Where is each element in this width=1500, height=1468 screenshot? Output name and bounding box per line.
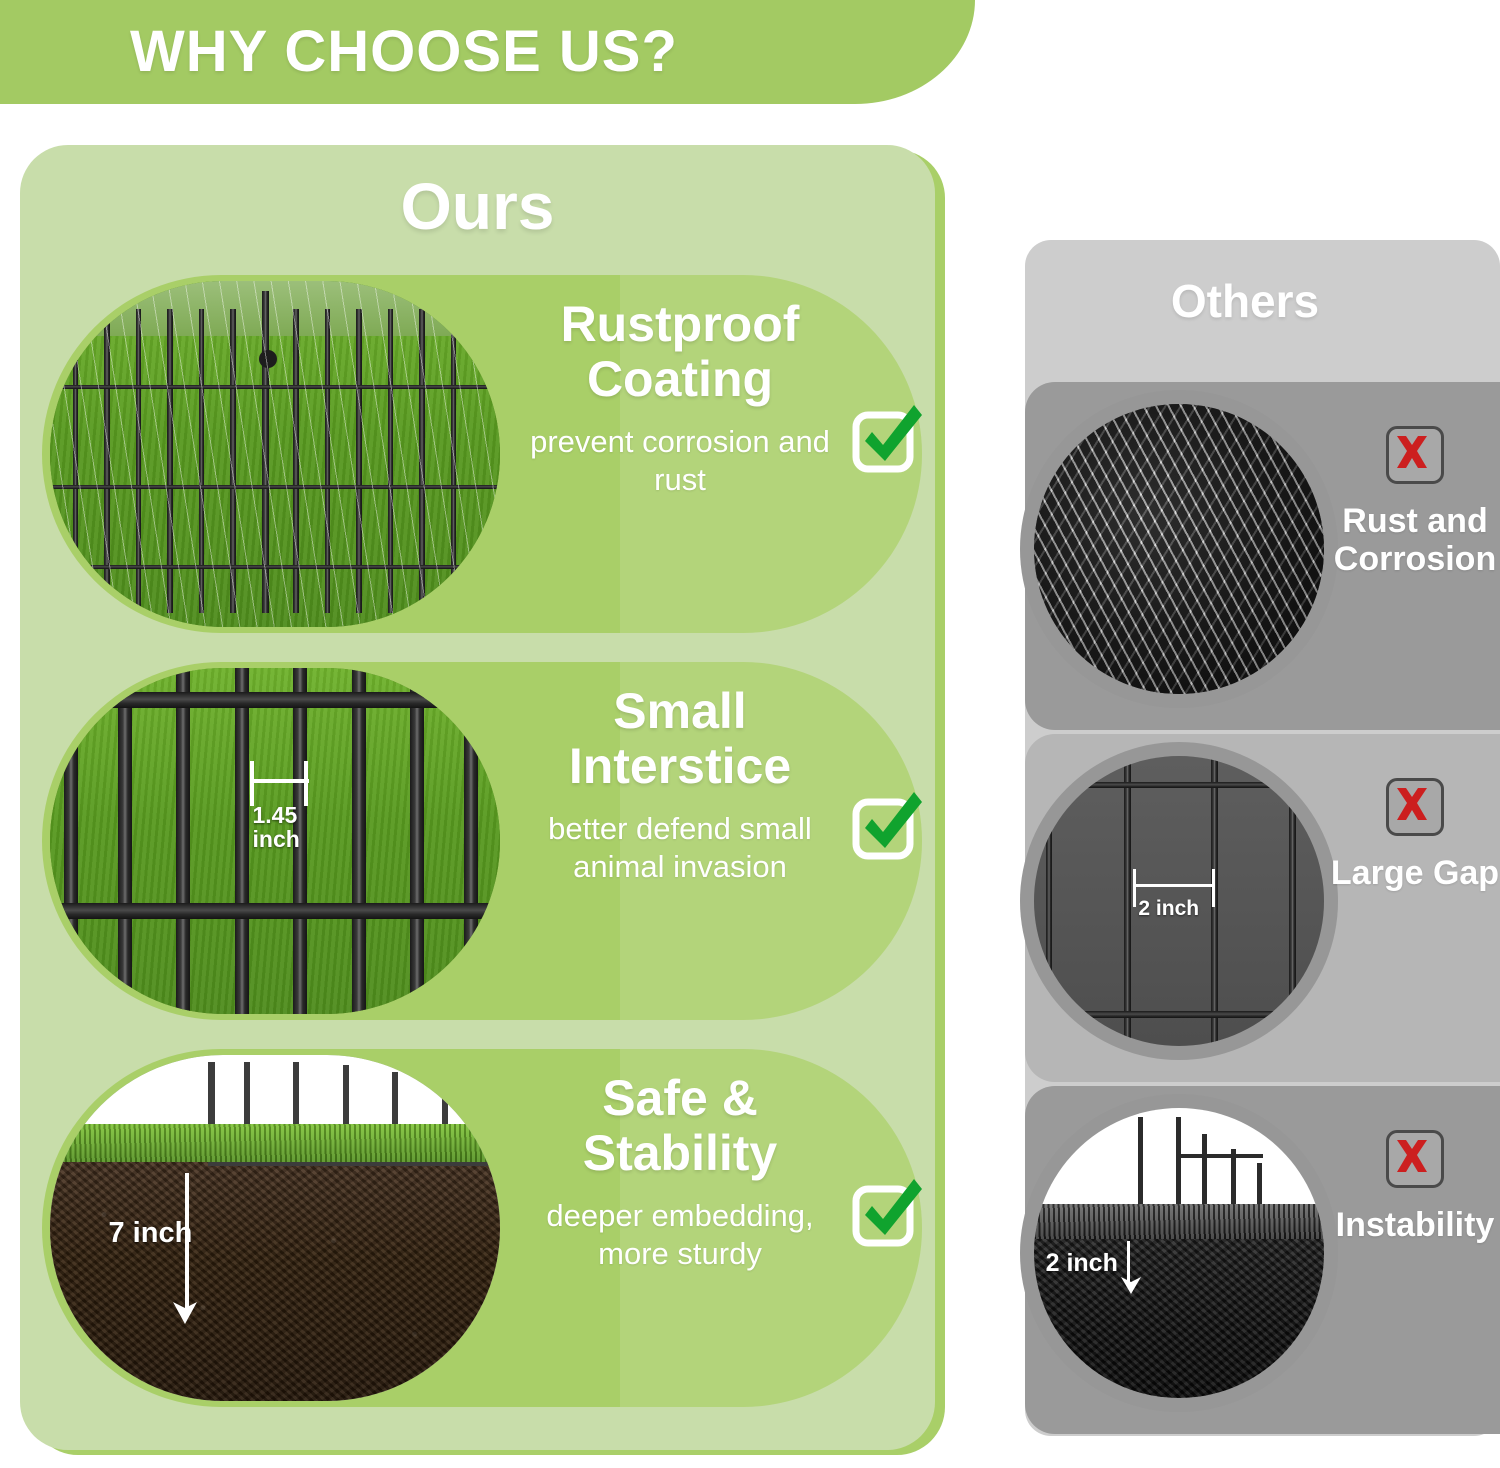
ours-feature-subtitle: deeper embedding, more sturdy xyxy=(515,1197,845,1273)
ours-feature-subtitle: prevent corrosion and rust xyxy=(515,423,845,499)
others-row-rust: Rust and Corrosion xyxy=(1025,382,1500,732)
ours-text-block: Small Interstice better defend small ani… xyxy=(515,684,845,886)
ours-feature-list: Rustproof Coating prevent corrosion and … xyxy=(20,267,935,1428)
ours-dimension-label: 1.45 inch xyxy=(253,803,300,851)
page-title: WHY CHOOSE US? xyxy=(130,23,678,81)
others-caption: Instability xyxy=(1325,1130,1500,1244)
ours-photo-soil-cross-section: 7 inch xyxy=(50,1055,500,1401)
ours-panel: Ours xyxy=(20,145,935,1450)
ours-text-block: Safe & Stability deeper embedding, more … xyxy=(515,1071,845,1273)
others-dimension-label: 2 inch xyxy=(1138,898,1199,920)
others-label: Large Gap xyxy=(1325,854,1500,892)
red-x-icon xyxy=(1386,778,1444,836)
others-panel: Others Rust and Corrosion xyxy=(1025,240,1500,1436)
others-row-instability: 2 inch Instability xyxy=(1025,1086,1500,1436)
ours-feature-title: Small Interstice xyxy=(515,684,845,794)
green-check-icon xyxy=(850,401,924,475)
others-caption: Large Gap xyxy=(1325,778,1500,892)
others-label: Instability xyxy=(1325,1206,1500,1244)
ours-title: Ours xyxy=(20,173,935,239)
ours-feature-title: Rustproof Coating xyxy=(515,297,845,407)
red-x-icon xyxy=(1386,426,1444,484)
others-photo-wide-gap: 2 inch xyxy=(1020,742,1338,1060)
red-x-icon xyxy=(1386,1130,1444,1188)
ours-feature-title: Safe & Stability xyxy=(515,1071,845,1181)
others-title: Others xyxy=(1025,278,1465,324)
depth-arrow-icon xyxy=(169,1297,201,1325)
others-label: Rust and Corrosion xyxy=(1325,502,1500,579)
rusted-mesh-artwork xyxy=(1034,404,1324,694)
others-caption: Rust and Corrosion xyxy=(1325,426,1500,579)
ours-feature-subtitle: better defend small animal invasion xyxy=(515,810,845,886)
rain-artwork xyxy=(50,281,500,627)
ours-photo-fence-in-rain xyxy=(50,281,500,627)
ours-row-safe-stability: 7 inch Safe & Stability deeper embedding… xyxy=(20,1041,935,1418)
ours-dimension-label: 7 inch xyxy=(109,1218,193,1248)
ours-photo-bar-spacing: 1.45 inch xyxy=(50,668,500,1014)
others-photo-rusted-mesh xyxy=(1020,390,1338,708)
green-check-icon xyxy=(850,788,924,862)
ours-text-block: Rustproof Coating prevent corrosion and … xyxy=(515,297,845,499)
green-check-icon xyxy=(850,1175,924,1249)
ours-row-small-interstice: 1.45 inch Small Interstice better defend… xyxy=(20,654,935,1031)
others-feature-list: Rust and Corrosion 2 inch xyxy=(1025,382,1500,1438)
others-row-large-gap: 2 inch Large Gap xyxy=(1025,734,1500,1084)
others-dimension-label: 2 inch xyxy=(1046,1250,1118,1276)
others-photo-shallow-stake: 2 inch xyxy=(1020,1094,1338,1412)
ours-row-rustproof: Rustproof Coating prevent corrosion and … xyxy=(20,267,935,644)
depth-arrow-icon xyxy=(1118,1273,1144,1295)
header-banner: WHY CHOOSE US? xyxy=(0,0,975,104)
